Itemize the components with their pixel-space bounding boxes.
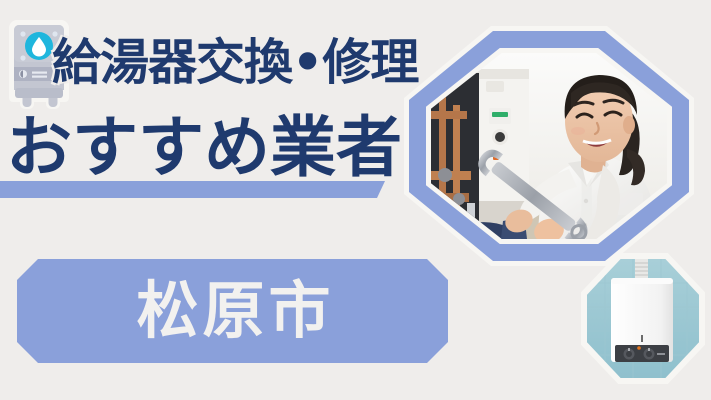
banner-root: 給湯器交換•修理 おすすめ業者 松原市 — [0, 0, 711, 400]
headline-line-1: 給湯器交換•修理 — [52, 38, 418, 87]
city-name-box: 松原市 — [17, 259, 448, 363]
city-name-label: 松原市 — [130, 280, 334, 342]
water-heater-product-frame — [581, 253, 705, 384]
technician-photo-frame — [404, 26, 694, 266]
headline-line-2: おすすめ業者 — [6, 108, 402, 187]
headline-block: 給湯器交換•修理 おすすめ業者 — [0, 38, 430, 208]
headline-line-2-wrapper: おすすめ業者 — [0, 108, 430, 208]
